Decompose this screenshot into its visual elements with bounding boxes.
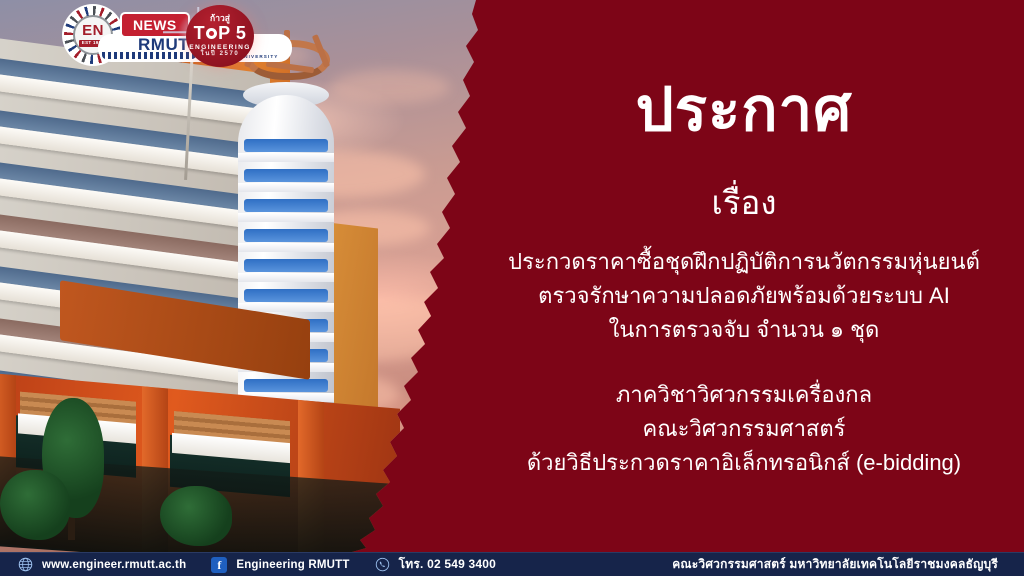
footer-contact-group: www.engineer.rmutt.ac.th f Engineering R… [0,555,496,574]
department-line: ภาควิชาวิศวกรรมเครื่องกล [464,378,1024,412]
website-url[interactable]: www.engineer.rmutt.ac.th [42,559,186,571]
campus-building-photo [0,0,520,552]
tree [160,486,232,546]
subject-line: ประกวดราคาซื้อชุดฝึกปฏิบัติการนวัตกรรมหุ… [464,245,1024,279]
phone-icon[interactable] [375,557,390,572]
announcement-text-pane: ประกาศ เรื่อง ประกวดราคาซื้อชุดฝึกปฏิบัต… [464,0,1024,552]
target-icon [206,28,217,39]
department-line: ด้วยวิธีประกวดราคาอิเล็กทรอนิกส์ (e-bidd… [464,446,1024,480]
top5-line2: T P 5 [194,24,247,43]
gear-initials: EN [82,23,104,38]
globe-icon[interactable] [18,557,33,572]
page-title: ประกาศ [464,78,1024,141]
phone-number[interactable]: โทร. 02 549 3400 [399,555,496,574]
subject-label: เรื่อง [464,176,1024,229]
subject-line: ในการตรวจจับ จำนวน ๑ ชุด [464,313,1024,347]
top5-letter-t: T [194,24,206,43]
facebook-page-name[interactable]: Engineering RMUTT [236,559,349,571]
organization-name: คณะวิศวกรรมศาสตร์ มหาวิทยาลัยเทคโนโลยีรา… [672,555,998,574]
department-line: คณะวิศวกรรมศาสตร์ [464,412,1024,446]
news-badge: NEWS [120,12,190,38]
tree [0,470,70,540]
wave-underline [102,52,196,59]
top5-rank: P 5 [218,24,246,43]
cloud [330,70,450,104]
department-body: ภาควิชาวิศวกรรมเครื่องกล คณะวิศวกรรมศาสต… [464,378,1024,480]
subject-body: ประกวดราคาซื้อชุดฝึกปฏิบัติการนวัตกรรมหุ… [464,245,1024,347]
footer-bar: www.engineer.rmutt.ac.th f Engineering R… [0,552,1024,576]
facebook-icon[interactable]: f [211,557,227,573]
footer-organization-group: คณะวิศวกรรมศาสตร์ มหาวิทยาลัยเทคโนโลยีรา… [672,555,1024,574]
subject-line: ตรวจรักษาความปลอดภัยพร้อมด้วยระบบ AI [464,279,1024,313]
announcement-poster: EN EST 1975 RMUTT MOVING TOWARDS INNOVAT… [0,0,1024,576]
top5-line4: ในปี 2570 [201,51,240,57]
top5-engineering-badge: ก้าวสู่ T P 5 ENGINEERING ในปี 2570 [186,5,254,67]
